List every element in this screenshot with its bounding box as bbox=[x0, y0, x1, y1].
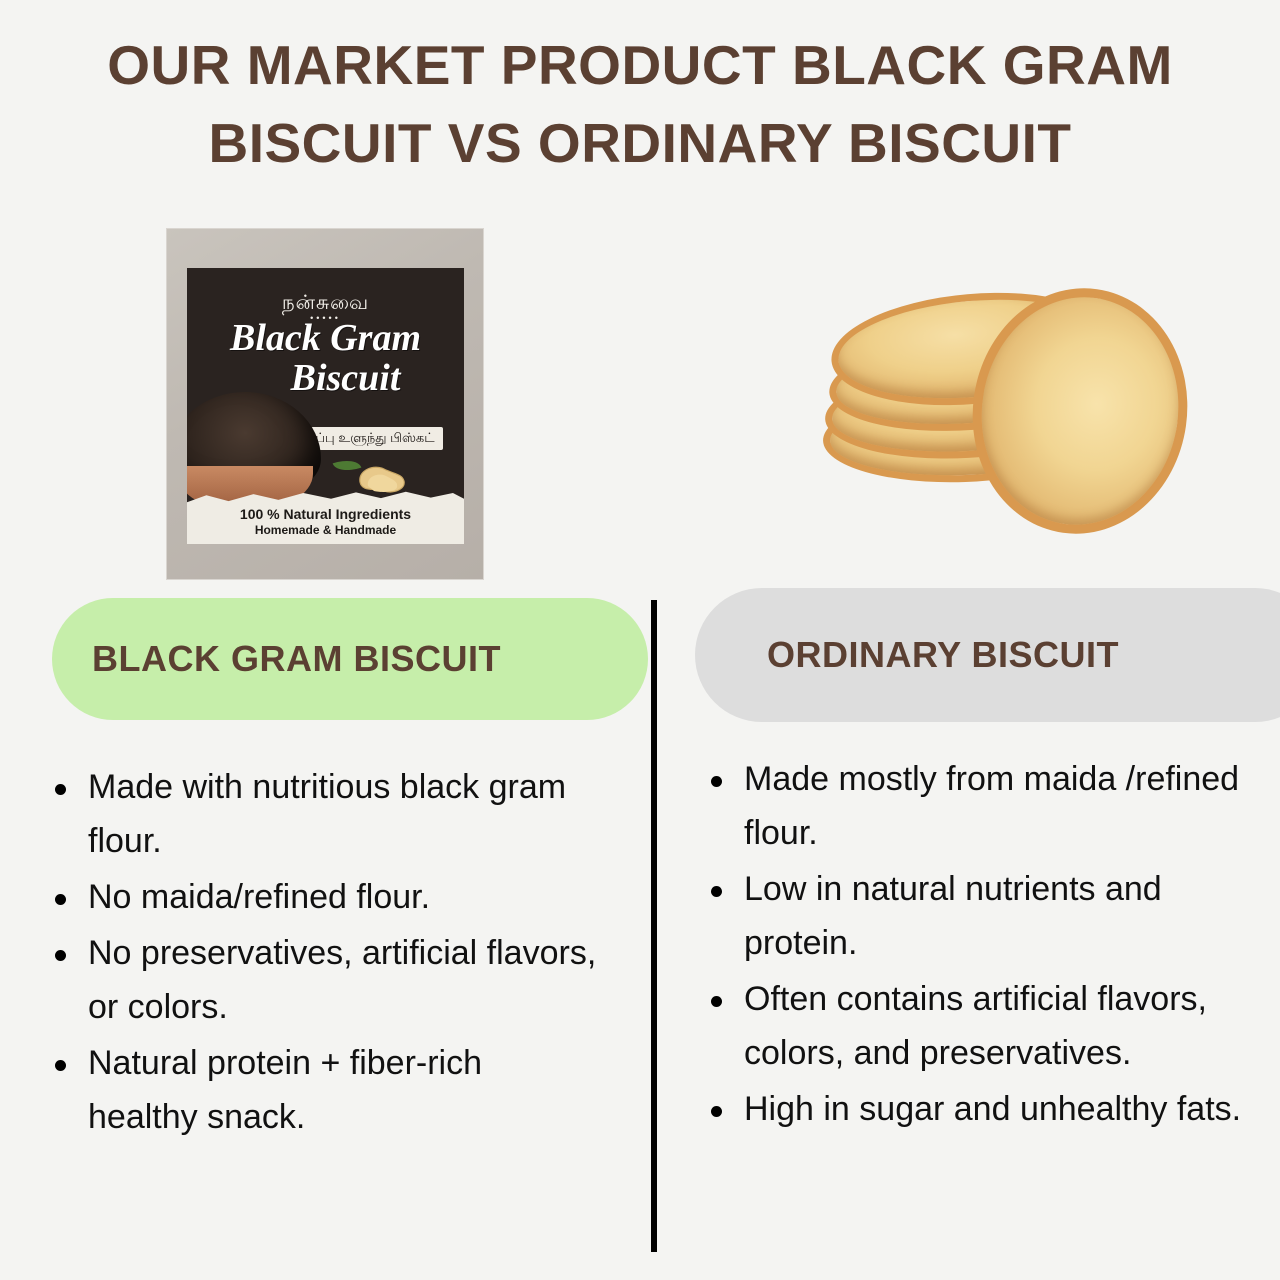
package-footer-line-1: 100 % Natural Ingredients bbox=[187, 506, 464, 524]
package-product-title: Black Gram Biscuit bbox=[187, 318, 464, 398]
cashew-nut-svg bbox=[354, 462, 406, 496]
list-item: Made with nutritious black gram flour. bbox=[38, 760, 598, 868]
cashew-icon bbox=[354, 462, 406, 496]
package-label: நன்சுவை ••••• Black Gram Biscuit கருப்பு… bbox=[187, 268, 464, 544]
left-column-bullet-list: Made with nutritious black gram flour. N… bbox=[38, 760, 598, 1146]
package-brand-tamil-text: நன்சுவை bbox=[282, 292, 369, 314]
list-item: High in sugar and unhealthy fats. bbox=[694, 1082, 1260, 1136]
right-column-heading-label: ORDINARY BISCUIT bbox=[767, 634, 1119, 676]
list-item: Often contains artificial flavors, color… bbox=[694, 972, 1260, 1080]
page-title-line-2: BISCUIT VS ORDINARY BISCUIT bbox=[0, 104, 1280, 182]
list-item: Natural protein + fiber-rich healthy sna… bbox=[38, 1036, 598, 1144]
list-item: Made mostly from maida /refined flour. bbox=[694, 752, 1260, 860]
package-footer-text: 100 % Natural Ingredients Homemade & Han… bbox=[187, 506, 464, 539]
list-item: No maida/refined flour. bbox=[38, 870, 598, 924]
package-title-line-2: Biscuit bbox=[227, 358, 464, 398]
column-divider bbox=[651, 600, 657, 1252]
page-title-line-1: OUR MARKET PRODUCT BLACK GRAM bbox=[0, 26, 1280, 104]
package-footer-line-2: Homemade & Handmade bbox=[187, 523, 464, 538]
black-gram-beans-icon bbox=[187, 416, 319, 488]
infographic-page: { "title": { "line1": "OUR MARKET PRODUC… bbox=[0, 0, 1280, 1280]
ordinary-biscuit-stack-photo bbox=[795, 270, 1185, 525]
right-column-heading-pill: ORDINARY BISCUIT bbox=[695, 588, 1280, 722]
page-title: OUR MARKET PRODUCT BLACK GRAM BISCUIT VS… bbox=[0, 26, 1280, 182]
left-column-heading-pill: BLACK GRAM BISCUIT bbox=[52, 598, 648, 720]
left-column-heading-label: BLACK GRAM BISCUIT bbox=[92, 638, 501, 680]
right-column-bullet-list: Made mostly from maida /refined flour. L… bbox=[694, 752, 1260, 1138]
black-gram-biscuit-package-photo: நன்சுவை ••••• Black Gram Biscuit கருப்பு… bbox=[166, 228, 484, 580]
package-title-line-1: Black Gram bbox=[230, 317, 421, 359]
list-item: Low in natural nutrients and protein. bbox=[694, 862, 1260, 970]
list-item: No preservatives, artificial flavors, or… bbox=[38, 926, 598, 1034]
